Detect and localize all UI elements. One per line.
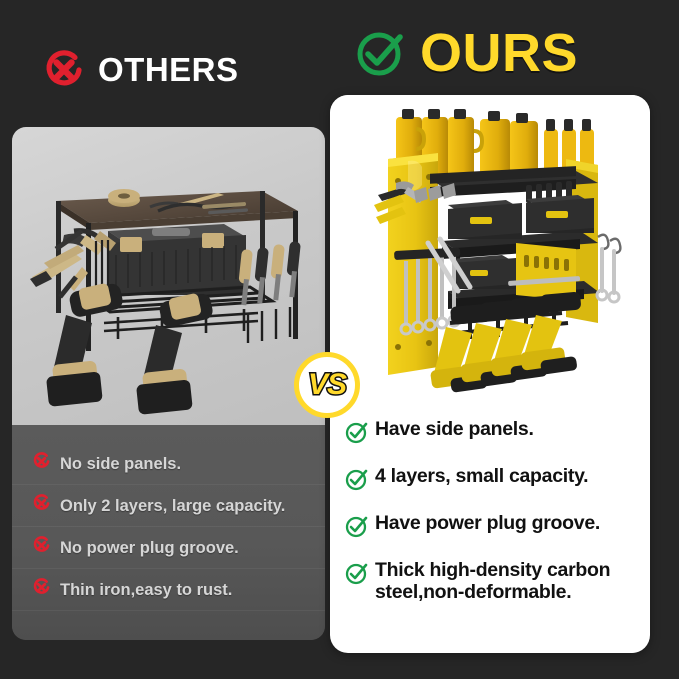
list-item: No side panels. bbox=[12, 443, 325, 485]
others-bullet-list: No side panels. Only 2 layers, large cap… bbox=[12, 425, 325, 640]
list-item-label: 4 layers, small capacity. bbox=[375, 466, 588, 488]
ours-title: OURS bbox=[420, 22, 578, 84]
circle-x-icon bbox=[32, 452, 51, 476]
list-item-label: No power plug groove. bbox=[60, 539, 239, 558]
circle-check-icon bbox=[344, 466, 370, 497]
circle-x-icon bbox=[42, 48, 86, 92]
list-item-label: Have power plug groove. bbox=[375, 513, 600, 535]
circle-check-icon bbox=[344, 419, 370, 450]
circle-check-icon bbox=[352, 24, 410, 82]
comparison-infographic: OTHERS OURS bbox=[0, 0, 679, 679]
circle-x-icon bbox=[32, 536, 51, 560]
others-card: No side panels. Only 2 layers, large cap… bbox=[12, 127, 325, 640]
list-item: Have side panels. bbox=[344, 419, 642, 450]
list-item: Thick high-density carbon steel,non-defo… bbox=[344, 560, 642, 604]
list-item-label: Only 2 layers, large capacity. bbox=[60, 497, 285, 516]
list-item: No power plug groove. bbox=[12, 527, 325, 569]
list-item: Only 2 layers, large capacity. bbox=[12, 485, 325, 527]
list-item: Thin iron,easy to rust. bbox=[12, 569, 325, 611]
ours-bullet-list: Have side panels. 4 layers, small capaci… bbox=[330, 413, 650, 653]
others-product-photo bbox=[12, 127, 325, 425]
circle-x-icon bbox=[32, 494, 51, 518]
list-item-label: No side panels. bbox=[60, 455, 181, 474]
ours-header: OURS bbox=[352, 22, 578, 84]
others-title: OTHERS bbox=[98, 51, 239, 89]
list-item: 4 layers, small capacity. bbox=[344, 466, 642, 497]
ours-card: Have side panels. 4 layers, small capaci… bbox=[330, 95, 650, 653]
list-item-label: Have side panels. bbox=[375, 419, 534, 441]
list-item-label: Thick high-density carbon steel,non-defo… bbox=[375, 560, 642, 604]
ours-product-photo bbox=[330, 95, 650, 415]
circle-check-icon bbox=[344, 560, 370, 591]
circle-x-icon bbox=[32, 578, 51, 602]
circle-check-icon bbox=[344, 513, 370, 544]
others-header: OTHERS bbox=[42, 48, 239, 92]
list-item-label: Thin iron,easy to rust. bbox=[60, 581, 232, 600]
versus-label: VS bbox=[308, 370, 346, 400]
list-item: Have power plug groove. bbox=[344, 513, 642, 544]
versus-badge: VS bbox=[294, 352, 360, 418]
